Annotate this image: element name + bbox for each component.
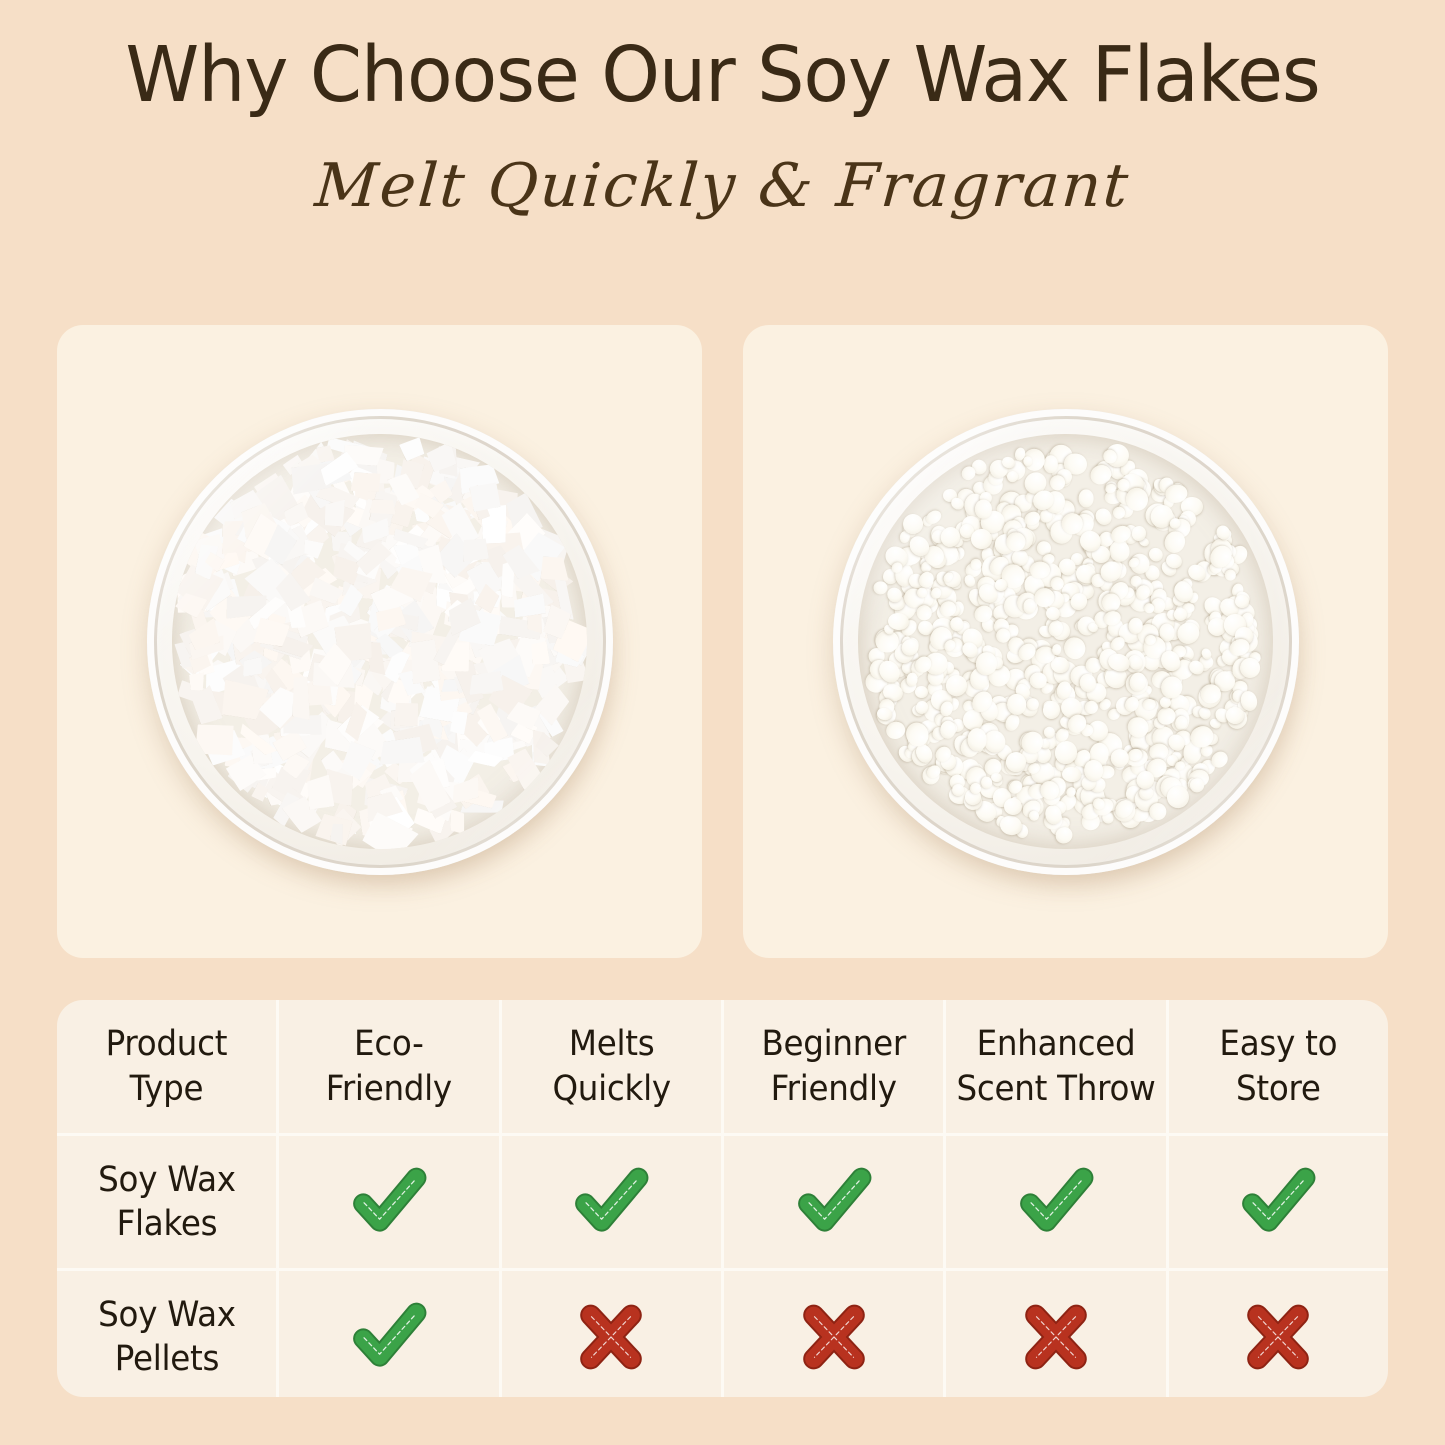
product-name-label: Soy WaxPellets — [98, 1293, 236, 1381]
page-title: Why Choose Our Soy Wax Flakes — [22, 34, 1424, 119]
flakes-bowl — [147, 409, 613, 875]
pellets-bowl — [833, 409, 1299, 875]
check-mark-icon — [572, 1163, 650, 1241]
table-cell-melts-quickly — [499, 1271, 721, 1397]
cross-mark-icon — [1017, 1298, 1095, 1376]
glass-bowl — [147, 409, 613, 875]
table-header-label: Easy toStore — [1219, 1022, 1337, 1110]
table-cell-beginner-friendly — [721, 1136, 943, 1268]
table-header-label: Eco-Friendly — [326, 1022, 452, 1110]
cross-mark-icon — [795, 1298, 873, 1376]
check-mark-icon — [1239, 1163, 1317, 1241]
cross-mark-icon — [1239, 1298, 1317, 1376]
table-cell-easy-to-store — [1166, 1271, 1388, 1397]
table-cell-eco-friendly — [276, 1271, 498, 1397]
table-header-cell-beginner-friendly: BeginnerFriendly — [721, 1000, 943, 1133]
product-image-cards — [57, 325, 1388, 958]
glass-bowl — [833, 409, 1299, 875]
table-header-label: BeginnerFriendly — [761, 1022, 905, 1110]
header: Why Choose Our Soy Wax Flakes Melt Quick… — [0, 0, 1445, 300]
table-header-cell-eco-friendly: Eco-Friendly — [276, 1000, 498, 1133]
page-subtitle: Melt Quickly & Fragrant — [0, 152, 1445, 221]
table-cell-easy-to-store — [1166, 1136, 1388, 1268]
table-cell-enhanced-scent-throw — [943, 1136, 1165, 1268]
table-header-cell-easy-to-store: Easy toStore — [1166, 1000, 1388, 1133]
check-mark-icon — [1017, 1163, 1095, 1241]
comparison-table: ProductType Eco-Friendly MeltsQuickly Be… — [57, 1000, 1388, 1397]
table-cell-product-name: Soy WaxPellets — [57, 1271, 276, 1397]
table-header-cell-enhanced-scent-throw: EnhancedScent Throw — [943, 1000, 1165, 1133]
cross-mark-icon — [572, 1298, 650, 1376]
check-mark-icon — [350, 1163, 428, 1241]
table-cell-melts-quickly — [499, 1136, 721, 1268]
table-header-cell-product-type: ProductType — [57, 1000, 276, 1133]
wax-pellets-fill — [858, 434, 1273, 849]
table-header-label: ProductType — [106, 1022, 228, 1110]
card-soy-wax-flakes[interactable] — [57, 325, 702, 958]
table-header-label: EnhancedScent Throw — [956, 1022, 1155, 1110]
card-soy-wax-pellets[interactable] — [743, 325, 1388, 958]
table-cell-eco-friendly — [276, 1136, 498, 1268]
table-header-cell-melts-quickly: MeltsQuickly — [499, 1000, 721, 1133]
table-cell-product-name: Soy WaxFlakes — [57, 1136, 276, 1268]
check-mark-icon — [795, 1163, 873, 1241]
check-mark-icon — [350, 1298, 428, 1376]
table-row: Soy WaxPellets — [57, 1268, 1388, 1397]
table-header-row: ProductType Eco-Friendly MeltsQuickly Be… — [57, 1000, 1388, 1133]
table-cell-beginner-friendly — [721, 1271, 943, 1397]
table-row: Soy WaxFlakes — [57, 1133, 1388, 1268]
table-header-label: MeltsQuickly — [552, 1022, 670, 1110]
table-cell-enhanced-scent-throw — [943, 1271, 1165, 1397]
wax-flakes-fill — [172, 434, 587, 849]
product-name-label: Soy WaxFlakes — [98, 1158, 236, 1246]
